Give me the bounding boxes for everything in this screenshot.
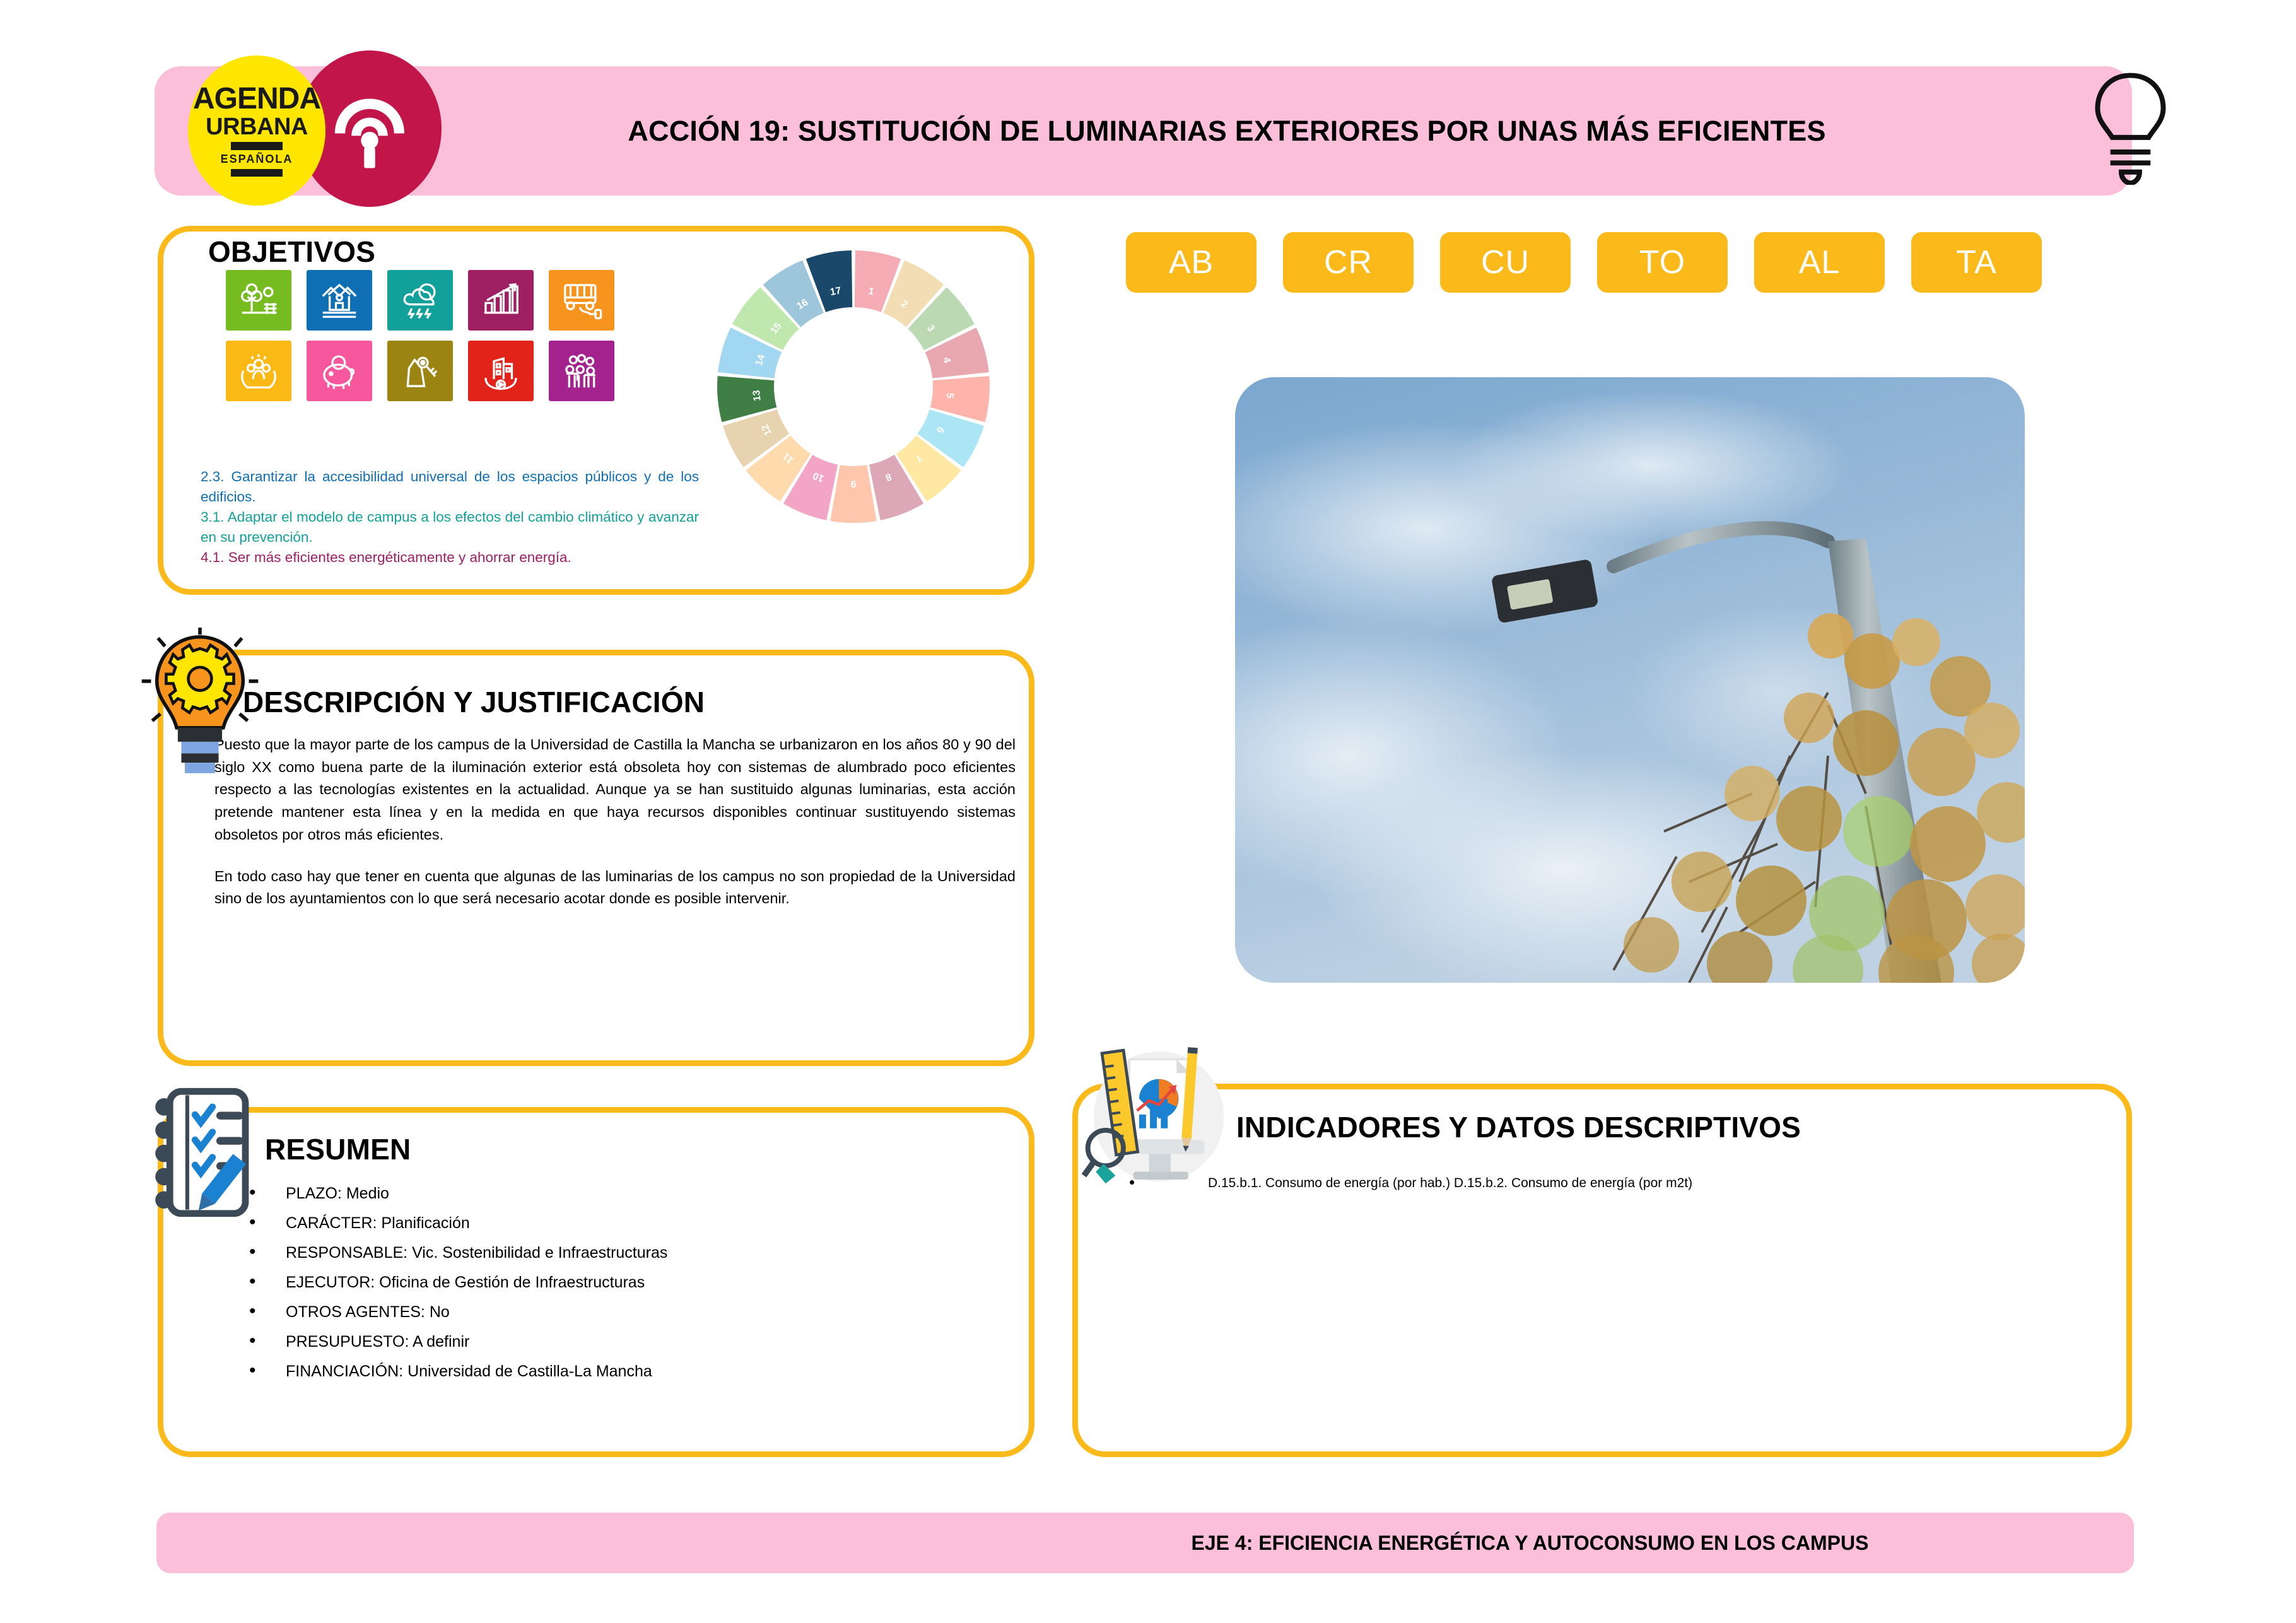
- footer-label: EJE 4: EFICIENCIA ENERGÉTICA Y AUTOCONSU…: [156, 1513, 2134, 1573]
- resumen-item-responsable: RESPONSABLE: Vic. Sostenibilidad e Infra…: [249, 1245, 975, 1261]
- sdg-wheel-icon: 1234567891011121314151617: [712, 245, 995, 529]
- indicadores-title: INDICADORES Y DATOS DESCRIPTIVOS: [1236, 1110, 1801, 1144]
- mobility-transport-icon: [549, 270, 614, 331]
- campus-badge-cu[interactable]: CU: [1440, 232, 1571, 293]
- objetivos-text: 2.3. Garantizar la accesibilidad univers…: [201, 467, 699, 568]
- descripcion-paragraph-0: Puesto que la mayor parte de los campus …: [214, 734, 1016, 847]
- digital-era-icon: [468, 341, 534, 401]
- sdg-segment-9: [830, 465, 876, 523]
- notepad-checklist-icon: [150, 1084, 257, 1219]
- resumen-list: PLAZO: Medio CARÁCTER: Planificación RES…: [249, 1186, 975, 1393]
- social-cohesion-icon: [226, 341, 291, 401]
- descripcion-body: Puesto que la mayor parte de los campus …: [214, 734, 1016, 910]
- campus-badge-to[interactable]: TO: [1597, 232, 1728, 293]
- urban-model-icon: [307, 270, 372, 331]
- objetivos-title: OBJETIVOS: [208, 235, 375, 269]
- campus-badge-row: AB CR CU TO AL TA: [1126, 232, 2042, 293]
- housing-icon: [387, 341, 453, 401]
- resumen-item-financiacion: FINANCIACIÓN: Universidad de Castilla-La…: [249, 1364, 975, 1380]
- indicadores-item-0: D.15.b.1. Consumo de energía (por hab.) …: [1129, 1175, 2063, 1192]
- agenda-urbana-logo: AGENDA URBANA ESPAÑOLA: [188, 56, 325, 206]
- objetivos-icon-grid: [226, 270, 614, 401]
- resumen-title: RESUMEN: [265, 1132, 411, 1166]
- sdg-segment-number-9: 9: [850, 478, 856, 489]
- agenda-logo-line3: ESPAÑOLA: [221, 153, 293, 166]
- climate-change-icon: [387, 270, 453, 331]
- agenda-logo-line2: URBANA: [206, 115, 308, 139]
- agenda-logo-rule-bottom: [231, 169, 283, 177]
- sdg-segment-number-5: 5: [944, 392, 956, 399]
- resumen-item-plazo: PLAZO: Medio: [249, 1186, 975, 1202]
- sdg-segment-number-13: 13: [751, 389, 763, 401]
- page-title: ACCIÓN 19: SUSTITUCIÓN DE LUMINARIAS EXT…: [334, 66, 2050, 196]
- objetivo-line-1: 3.1. Adaptar el modelo de campus a los e…: [201, 507, 699, 548]
- resumen-item-caracter: CARÁCTER: Planificación: [249, 1216, 975, 1231]
- circular-economy-icon: [468, 270, 534, 331]
- lightbulb-icon: [2085, 68, 2176, 185]
- objetivo-line-2: 4.1. Ser más eficientes energéticamente …: [201, 548, 699, 568]
- agenda-logo-rule-top: [231, 142, 283, 150]
- campus-badge-cr[interactable]: CR: [1283, 232, 1414, 293]
- lightbulb-gear-icon: [140, 628, 260, 779]
- campus-badge-ab[interactable]: AB: [1126, 232, 1256, 293]
- agenda-logo-line1: AGENDA: [193, 85, 320, 114]
- objetivo-line-0: 2.3. Garantizar la accesibilidad univers…: [201, 467, 699, 507]
- broadcast-signal-icon: [322, 81, 417, 176]
- chart-ruler-pencil-icon: [1082, 1038, 1230, 1195]
- campus-badge-al[interactable]: AL: [1754, 232, 1885, 293]
- resumen-item-ejecutor: EJECUTOR: Oficina de Gestión de Infraest…: [249, 1275, 975, 1291]
- resumen-item-presupuesto: PRESUPUESTO: A definir: [249, 1334, 975, 1350]
- poster-page: AGENDA URBANA ESPAÑOLA ACCIÓN 19: SUSTIT…: [0, 0, 2296, 1623]
- resumen-item-otros-agentes: OTROS AGENTES: No: [249, 1304, 975, 1320]
- descripcion-title: DESCRIPCIÓN Y JUSTIFICACIÓN: [243, 685, 705, 719]
- sdg-segment-number-17: 17: [829, 285, 843, 298]
- street-lamp-photo: [1235, 377, 2025, 983]
- indicadores-list: D.15.b.1. Consumo de energía (por hab.) …: [1129, 1175, 2063, 1192]
- territory-landscape-icon: [226, 270, 291, 331]
- descripcion-paragraph-1: En todo caso hay que tener en cuenta que…: [214, 865, 1016, 910]
- campus-badge-ta[interactable]: TA: [1911, 232, 2042, 293]
- local-economy-icon: [307, 341, 372, 401]
- governance-icon: [549, 341, 614, 401]
